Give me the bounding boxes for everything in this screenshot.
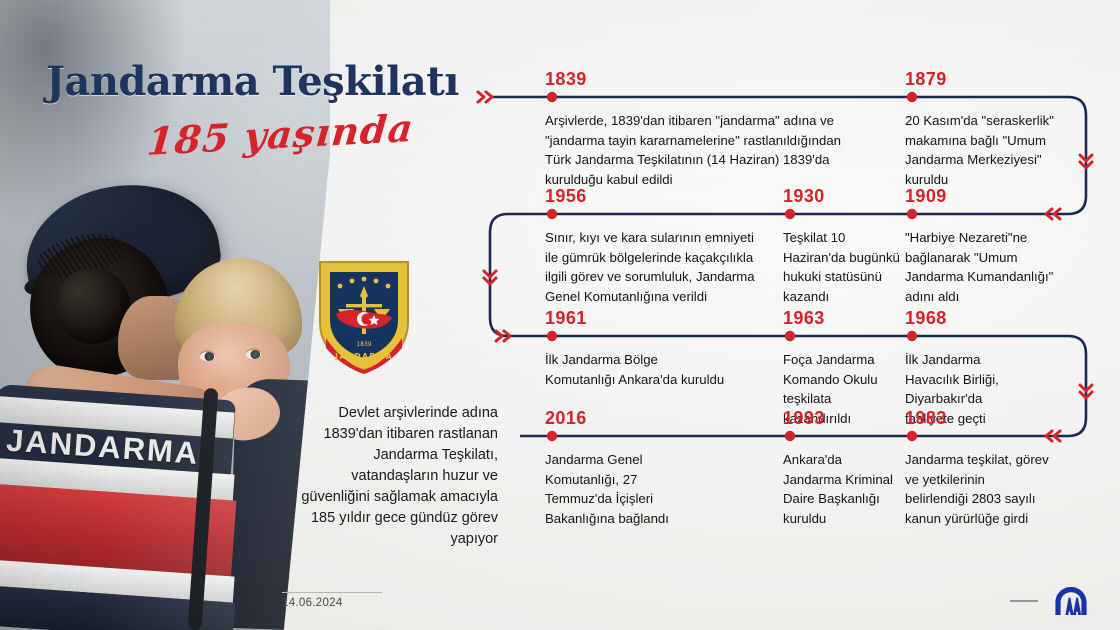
chevron-right-row3-icon [496,331,510,341]
footer-divider [282,592,382,593]
timeline-year: 2016 [545,408,587,429]
timeline-desc: Sınır, kıyı ve kara sularının emniyeti i… [545,228,757,306]
timeline-desc: Teşkilat 10 Haziran'da bugünkü hukuki st… [783,228,905,306]
timeline-year: 1993 [783,408,825,429]
chevron-down-row1-icon [1080,155,1092,168]
node-dot [907,92,917,102]
timeline-desc: Arşivlerde, 1839'dan itibaren "jandarma"… [545,111,861,189]
timeline-desc: Jandarma teşkilat, görev ve yetkilerinin… [905,450,1049,528]
infographic-canvas: JANDARMA Jandarma Teşkilatı 185 yaşında … [0,0,1120,630]
timeline-year: 1961 [545,308,587,329]
timeline-year: 1963 [783,308,825,329]
footer-date: 14.06.2024 [282,597,343,609]
node-dot [907,331,917,341]
chevron-down-row2-icon [484,271,496,284]
jandarma-emblem: 1839 JANDARMA [316,256,412,374]
aa-logo [1052,584,1090,618]
node-dot [785,431,795,441]
node-dot [547,209,557,219]
timeline-year: 1879 [905,69,947,90]
page-title: Jandarma Teşkilatı [46,58,459,105]
timeline-desc: Ankara'da Jandarma Kriminal Daire Başkan… [783,450,901,528]
timeline-year: 1909 [905,186,947,207]
timeline-desc: İlk Jandarma Bölge Komutanlığı Ankara'da… [545,350,725,389]
node-dot [907,209,917,219]
emblem-year: 1839 [356,341,371,348]
timeline-year: 1956 [545,186,587,207]
timeline-desc: "Harbiye Nezareti"ne bağlanarak "Umum Ja… [905,228,1077,306]
chevron-left-row4-icon [1046,431,1060,441]
node-dot [547,331,557,341]
timeline-year: 1968 [905,308,947,329]
lead-paragraph: Devlet arşivlerinde adına 1839'dan itiba… [300,403,498,550]
chevron-left-row2-icon [1046,209,1060,219]
node-dot [785,209,795,219]
timeline-desc: 20 Kasım'da "seraskerlik" makamına bağlı… [905,111,1073,189]
node-dot [785,331,795,341]
timeline-year: 1983 [905,408,947,429]
node-dot [547,92,557,102]
timeline-desc: Jandarma Genel Komutanlığı, 27 Temmuz'da… [545,450,691,528]
timeline-year: 1930 [783,186,825,207]
emblem-banner-text: JANDARMA [334,352,393,361]
timeline-year: 1839 [545,69,587,90]
chevron-right-start-icon [478,92,492,102]
node-dot [547,431,557,441]
logo-divider [1010,600,1038,602]
chevron-down-row3-icon [1080,385,1092,398]
node-dot [907,431,917,441]
